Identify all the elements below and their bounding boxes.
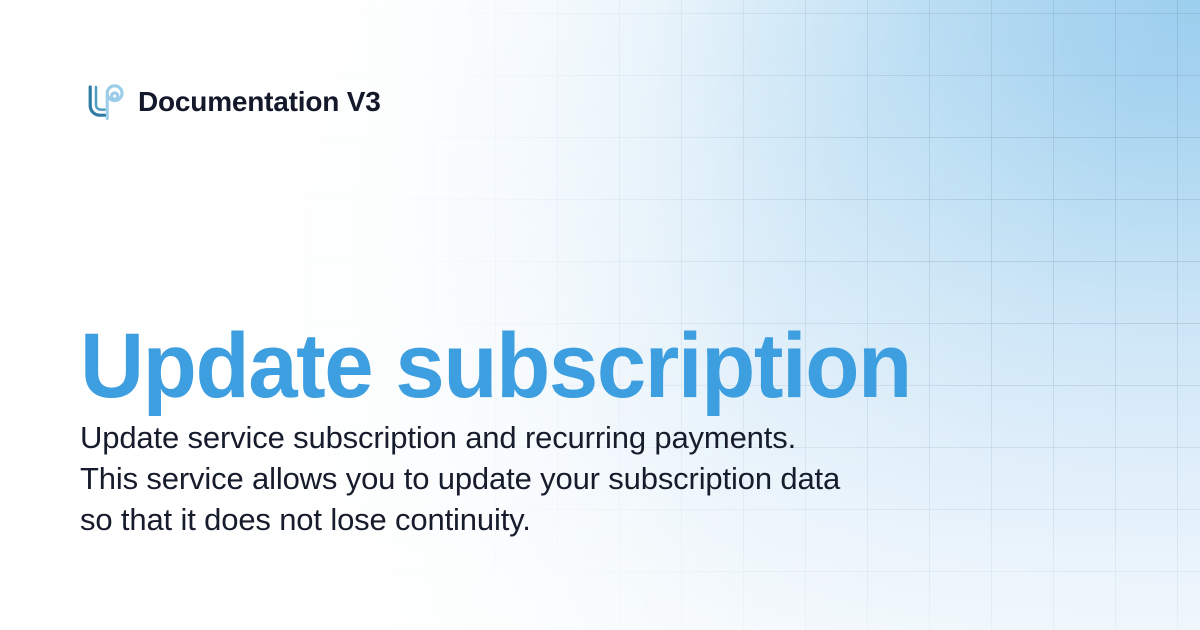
brand-title: Documentation V3 [138,88,381,116]
page-title: Update subscription [80,317,1084,415]
og-card: Documentation V3 Update subscription Upd… [0,0,1200,630]
up-monogram-logo-icon [80,80,124,124]
card-content: Documentation V3 Update subscription Upd… [0,0,1200,630]
page-description: Update service subscription and recurrin… [80,417,850,540]
brand-row: Documentation V3 [80,79,381,125]
